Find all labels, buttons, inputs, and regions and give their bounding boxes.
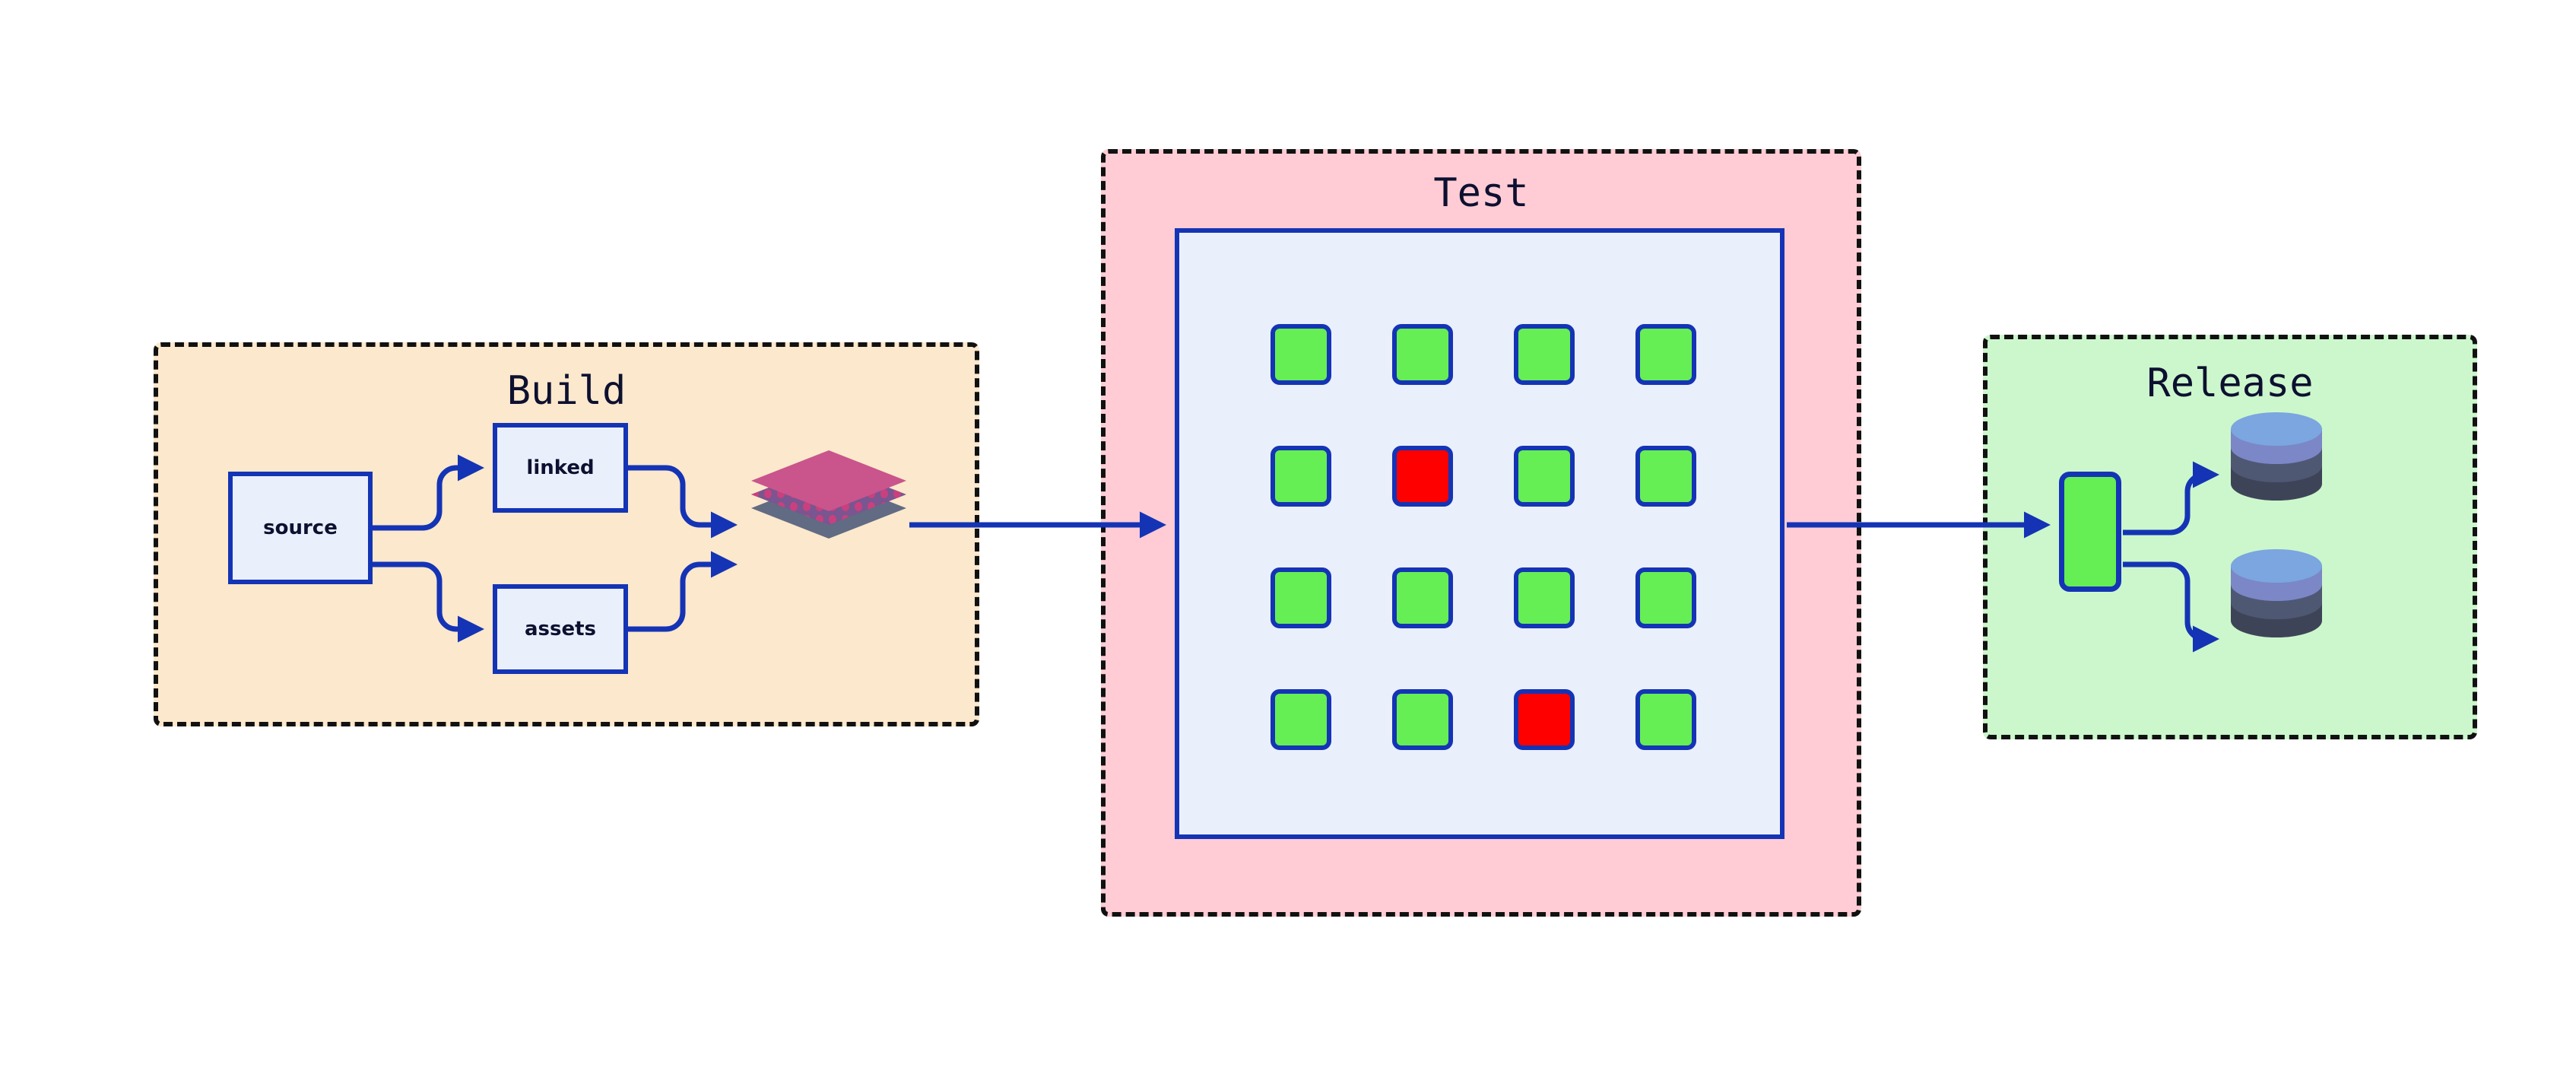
test-cell-pass[interactable] (1271, 689, 1331, 750)
database-icon[interactable] (2228, 548, 2325, 639)
test-cell-pass[interactable] (1514, 446, 1575, 507)
node-source-label: source (263, 517, 338, 539)
test-cell-pass[interactable] (1635, 689, 1696, 750)
stage-title-test: Test (1106, 170, 1857, 216)
database-icon[interactable] (2228, 411, 2325, 502)
test-cell-pass[interactable] (1271, 446, 1331, 507)
release-gate[interactable] (2059, 472, 2121, 592)
stage-release[interactable]: Release (1983, 335, 2477, 739)
test-cell-pass[interactable] (1392, 567, 1453, 628)
test-cell-pass[interactable] (1635, 324, 1696, 385)
node-source[interactable]: source (228, 472, 373, 584)
stage-title-build: Build (158, 368, 975, 414)
test-cell-pass[interactable] (1271, 567, 1331, 628)
test-cell-fail[interactable] (1392, 446, 1453, 507)
test-cell-fail[interactable] (1514, 689, 1575, 750)
test-cell-pass[interactable] (1392, 324, 1453, 385)
test-cell-pass[interactable] (1514, 324, 1575, 385)
node-linked[interactable]: linked (493, 423, 628, 513)
stage-title-release: Release (1988, 361, 2473, 406)
test-cell-pass[interactable] (1635, 446, 1696, 507)
node-linked-label: linked (526, 456, 594, 479)
node-assets[interactable]: assets (493, 584, 628, 674)
test-cell-pass[interactable] (1635, 567, 1696, 628)
test-cell-pass[interactable] (1271, 324, 1331, 385)
layers-icon (749, 449, 909, 601)
test-cell-pass[interactable] (1392, 689, 1453, 750)
node-assets-label: assets (525, 618, 596, 640)
test-results-panel (1175, 228, 1784, 839)
test-cell-pass[interactable] (1514, 567, 1575, 628)
